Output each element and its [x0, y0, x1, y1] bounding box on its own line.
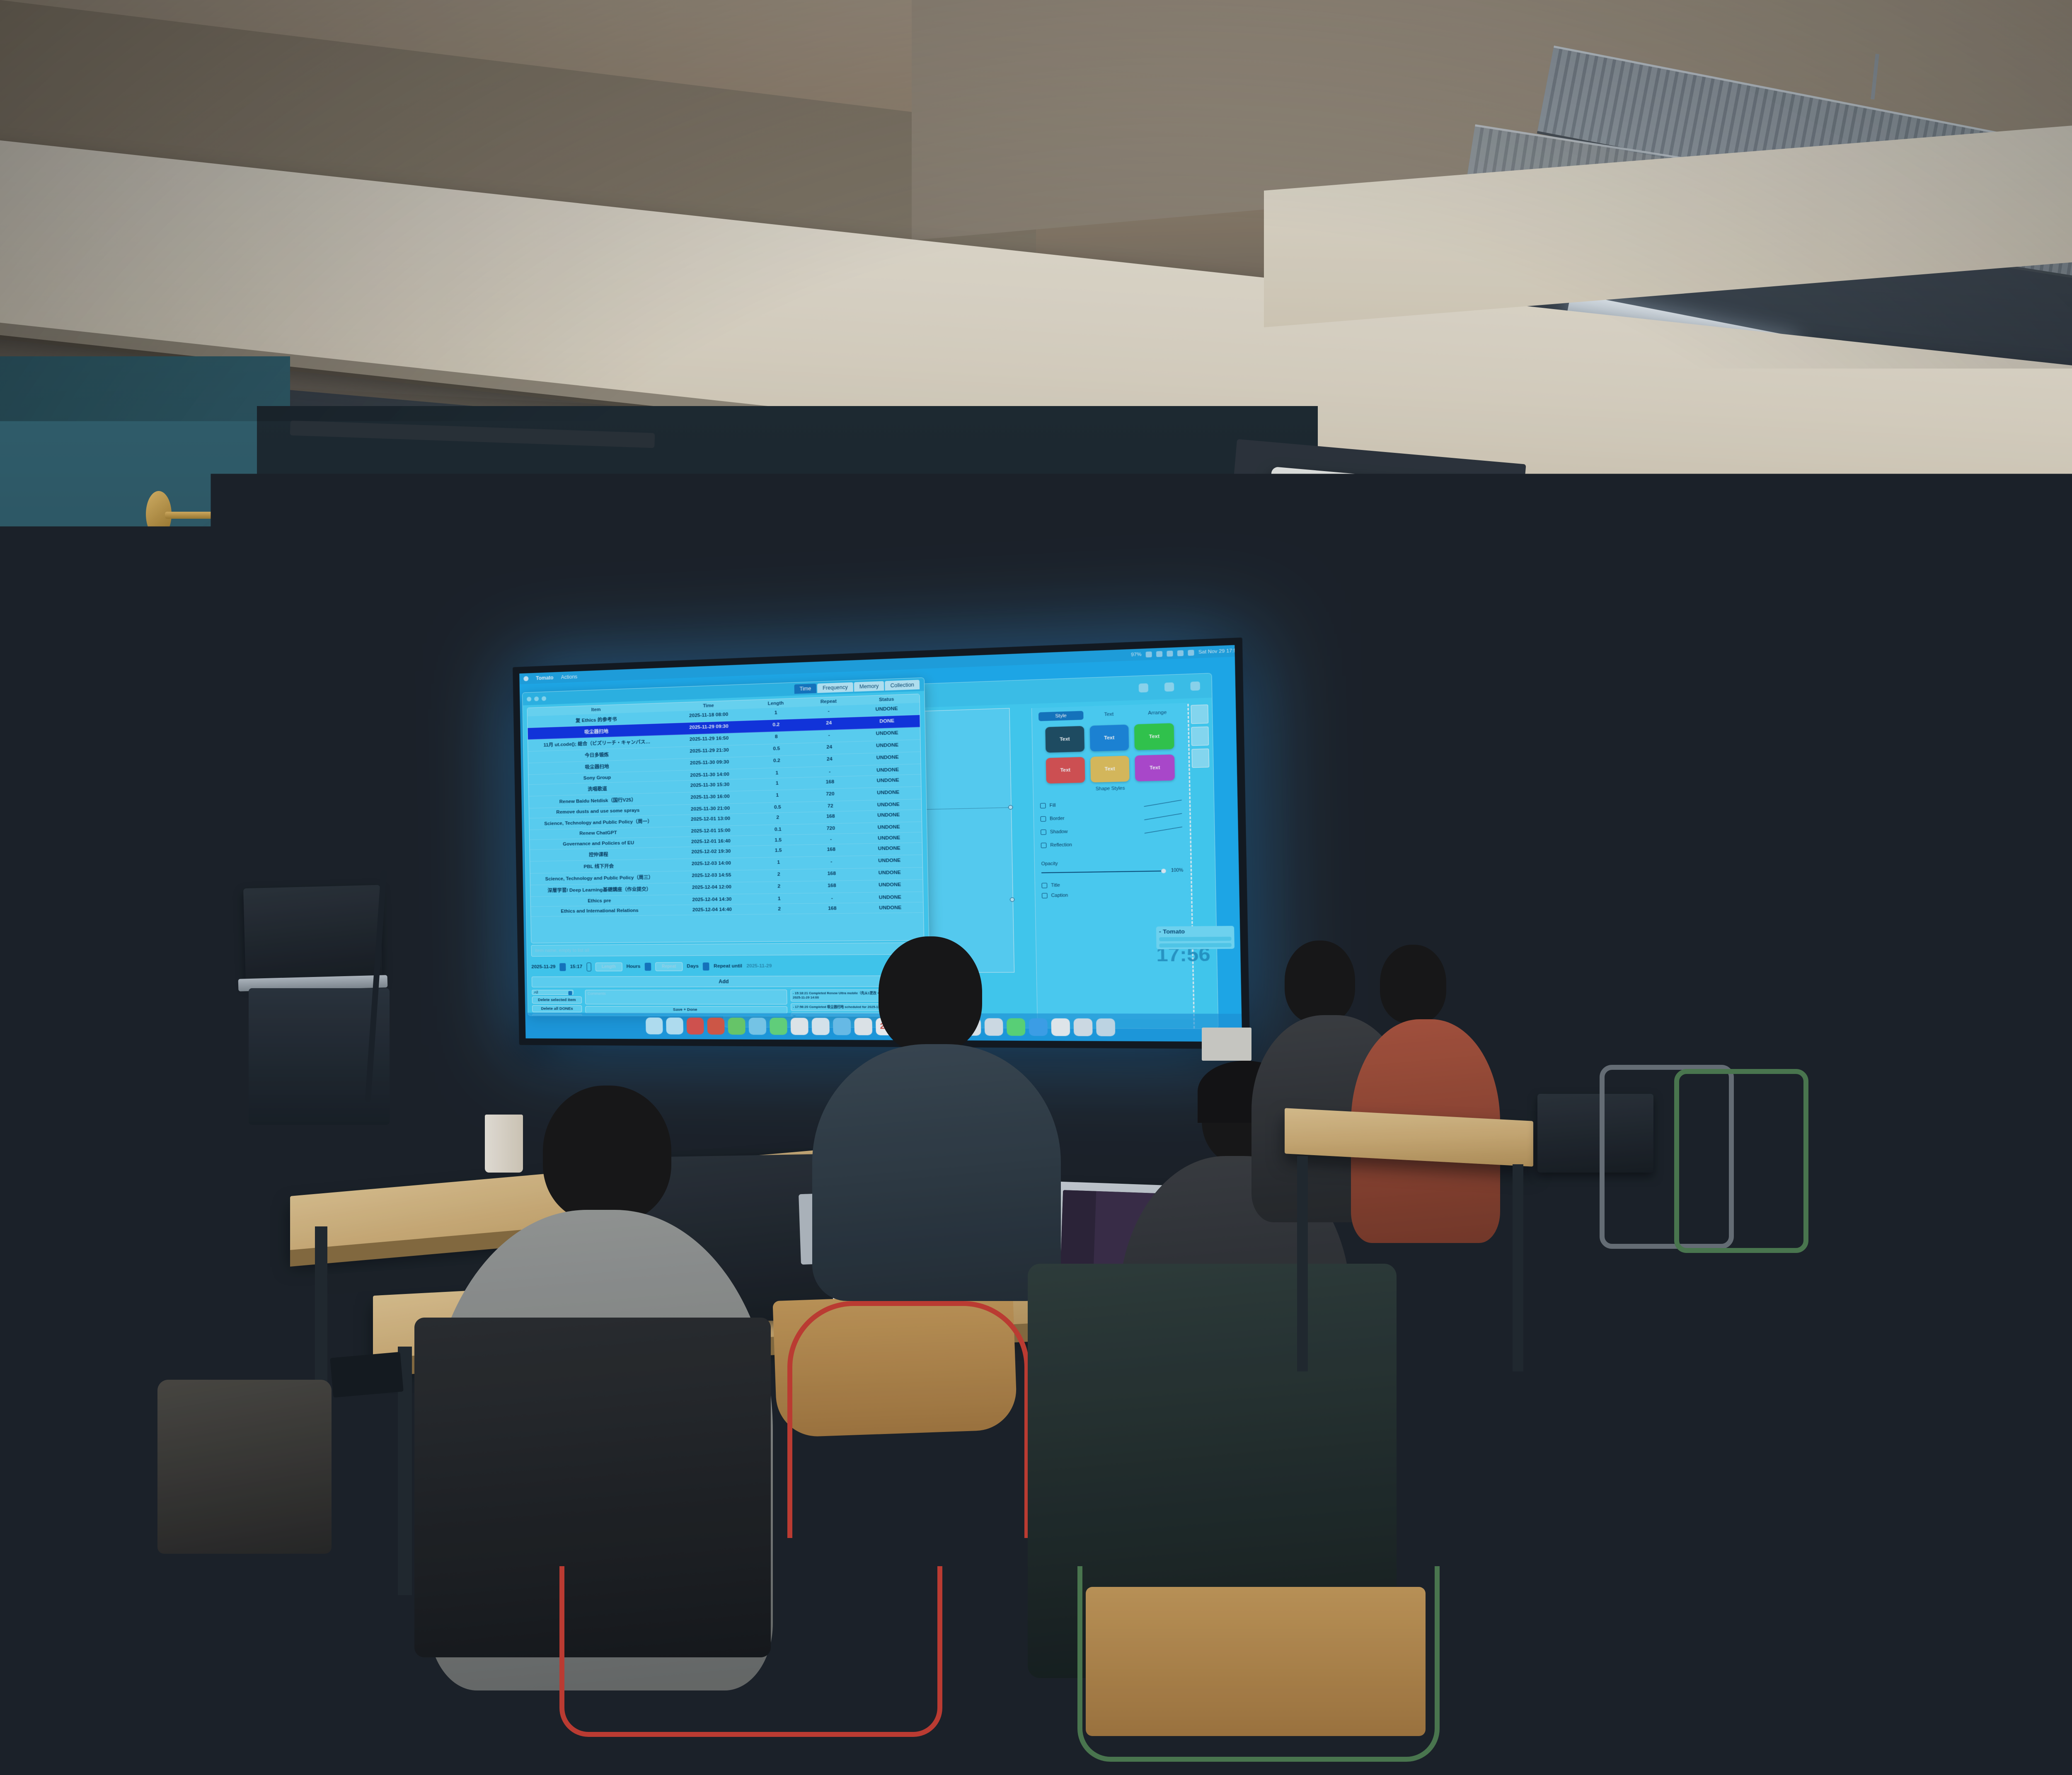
dia-icon[interactable] — [985, 1018, 1003, 1035]
cell-repeat: - — [803, 858, 860, 866]
cell-time: 2025-12-04 14:40 — [669, 907, 755, 913]
shape-swatch[interactable]: Text — [1089, 725, 1129, 752]
sconce-joint-left — [240, 514, 249, 539]
chair-frame-green-2[interactable] — [1674, 1069, 1808, 1253]
photos-icon[interactable] — [749, 1018, 767, 1035]
cell-length: 0.2 — [753, 758, 801, 766]
cell-repeat: 24 — [801, 744, 858, 752]
cell-status: UNDONE — [859, 777, 917, 786]
chair-seat-wood[interactable] — [1086, 1587, 1426, 1736]
inspector-row-title[interactable]: Title — [1041, 877, 1184, 892]
cell-length: 2 — [754, 815, 802, 822]
backpack-secondary — [157, 1380, 332, 1554]
checkbox-icon[interactable] — [1041, 829, 1046, 835]
cell-time: 2025-11-29 16:50 — [666, 735, 753, 745]
slide-thumbnail[interactable] — [1191, 704, 1208, 724]
cell-length: 1 — [753, 780, 801, 788]
checkbox-icon[interactable] — [1042, 893, 1048, 898]
cell-length: 1 — [753, 792, 801, 800]
screen-mirroring-icon[interactable] — [1146, 651, 1152, 658]
shape-swatch[interactable]: Text — [1045, 726, 1084, 753]
col-repeat[interactable]: Repeat — [800, 698, 857, 705]
new-task-form: 2025-11-29 15:17 Length Hours Repeat Day… — [531, 958, 924, 974]
laptop-right-screen[interactable] — [1859, 1148, 1982, 1241]
sconce-arm-left — [165, 512, 247, 519]
cell-repeat: - — [801, 768, 859, 775]
checkbox-icon[interactable] — [1042, 883, 1048, 888]
shape-swatch[interactable]: Text — [1134, 723, 1174, 750]
time-field[interactable]: 15:17 — [570, 964, 582, 969]
cell-repeat: 168 — [803, 871, 860, 879]
menu-actions[interactable]: Actions — [561, 674, 578, 680]
minimize-button[interactable] — [534, 696, 539, 701]
cell-item: Science, Technology and Public Policy（周三… — [530, 874, 669, 883]
mail-icon[interactable] — [833, 1018, 851, 1035]
cell-status: UNDONE — [859, 825, 918, 831]
trash-icon[interactable] — [1096, 1018, 1115, 1036]
cell-item: 复 Ethics 的参考书 — [528, 714, 666, 725]
cell-status: UNDONE — [859, 802, 917, 808]
tab-text[interactable]: Text — [1086, 709, 1132, 720]
save-done-button[interactable]: Save + Done — [585, 1006, 787, 1013]
cell-length: 1 — [752, 709, 800, 718]
cell-item: Ethics pre — [531, 897, 669, 904]
battery-percent: 97% — [1131, 652, 1142, 658]
col-status[interactable]: Status — [857, 696, 916, 703]
cell-item: 今日多锻炼 — [528, 750, 666, 760]
cell-repeat: 168 — [802, 846, 860, 854]
chair-back-red[interactable] — [787, 1301, 1029, 1538]
task-table[interactable]: Item Time Length Repeat Status 复 Ethics … — [527, 694, 925, 943]
table-leg — [1890, 1670, 1904, 1775]
selection-handle[interactable] — [1008, 805, 1013, 810]
tab-collection[interactable]: Collection — [885, 680, 920, 691]
zoom-icon[interactable] — [1139, 683, 1148, 692]
format-inspector: Style Text Arrange Text Text Text Text T… — [1031, 703, 1193, 1020]
cell-length: 2 — [755, 872, 803, 879]
cell-time: 2025-12-04 14:30 — [669, 897, 755, 903]
tomato-widget-bar — [1159, 943, 1232, 948]
cell-status: UNDONE — [859, 812, 918, 820]
cell-item: 吸尘器扫地 — [528, 726, 666, 737]
cell-status: UNDONE — [857, 705, 916, 714]
zoom-button[interactable] — [542, 696, 546, 701]
safari-icon[interactable] — [812, 1018, 830, 1035]
paper-cup — [485, 1115, 523, 1173]
photos2-icon[interactable] — [854, 1018, 872, 1035]
cell-status: UNDONE — [860, 858, 919, 866]
cell-status: UNDONE — [860, 835, 918, 841]
cell-length: 2 — [755, 906, 804, 912]
wall-outlet[interactable] — [1202, 1028, 1251, 1061]
checkbox-icon[interactable] — [1041, 843, 1047, 848]
repeat-unit[interactable]: Days — [687, 964, 699, 969]
room-scene: フリーWi-Fiをご利用いただけます FREE WI-FI SSID Bizre… — [0, 0, 2072, 1775]
tab-time[interactable]: Time — [794, 684, 817, 694]
slide-thumbnail[interactable] — [1191, 726, 1209, 746]
music-icon[interactable] — [687, 1018, 704, 1035]
cell-repeat: 168 — [802, 813, 859, 822]
menubar-clock[interactable]: Sat Nov 29 17:56 — [1198, 648, 1240, 655]
cell-time: 2025-11-30 09:30 — [667, 759, 753, 768]
cell-length: 8 — [752, 733, 800, 742]
repeat-until-label: Repeat until — [714, 964, 742, 969]
tomato-widget[interactable]: - Tomato — [1156, 926, 1234, 950]
sconce-bulb-left — [239, 549, 257, 576]
tomato-widget-title: - Tomato — [1159, 928, 1232, 935]
smartphone[interactable] — [330, 1352, 404, 1398]
apple-icon[interactable] — [523, 676, 528, 681]
cell-repeat: 24 — [800, 720, 858, 728]
cell-length: 1.5 — [754, 837, 802, 843]
cell-item: Renew Baidu Netdisk（国行V25） — [529, 796, 667, 805]
cell-status: UNDONE — [858, 742, 917, 751]
shadow-label: Shadow — [1050, 829, 1068, 835]
time-stepper[interactable] — [586, 962, 591, 971]
cell-status: UNDONE — [861, 882, 919, 890]
shape-styles-caption: Shape Styles — [1040, 784, 1181, 793]
tomato-bottom-panel: All Delete selected item Delete all DONE… — [532, 989, 925, 1014]
cell-repeat: - — [800, 707, 857, 716]
caption-label: Caption — [1051, 893, 1068, 898]
inspector-row-reflection[interactable]: Reflection — [1041, 836, 1183, 852]
search-icon[interactable] — [1188, 650, 1194, 656]
cell-status: UNDONE — [861, 905, 920, 911]
cell-length: 1 — [755, 896, 803, 902]
chair-seat-wood-front[interactable] — [1546, 1608, 1836, 1732]
finder-icon[interactable] — [646, 1018, 663, 1035]
close-button[interactable] — [527, 696, 531, 701]
cell-time: 2025-12-01 13:00 — [668, 816, 754, 825]
action-button-column: All Delete selected item Delete all DONE… — [532, 990, 582, 1013]
cell-item: 控仲课程 — [530, 850, 668, 859]
cell-item: 洗唱歌道 — [529, 784, 667, 794]
date-stepper[interactable] — [559, 963, 566, 971]
comments-column: Comments Save + Done — [585, 989, 787, 1013]
cell-time: 2025-12-04 12:00 — [669, 884, 755, 892]
tomato-icon[interactable] — [707, 1018, 724, 1035]
cell-repeat: - — [803, 895, 861, 901]
reflection-label: Reflection — [1050, 842, 1072, 848]
repeat-input[interactable]: Repeat — [655, 962, 683, 971]
delete-all-dones-button[interactable]: Delete all DONEs — [532, 1005, 582, 1012]
length-unit[interactable]: Hours — [626, 964, 640, 969]
cell-item: Renew ChatGPT — [530, 829, 668, 837]
cell-status: UNDONE — [860, 870, 919, 878]
wechat-icon[interactable] — [728, 1018, 746, 1035]
control-center-icon[interactable] — [1177, 650, 1184, 656]
line-icon[interactable] — [1007, 1018, 1025, 1036]
close-icon[interactable] — [1190, 682, 1200, 691]
tab-frequency[interactable]: Frequency — [817, 682, 853, 693]
cell-time: 2025-11-29 09:30 — [666, 723, 752, 733]
cell-repeat: 168 — [804, 906, 861, 912]
col-length[interactable]: Length — [752, 700, 800, 707]
tomato-window[interactable]: Time Frequency Memory Collection Item Ti… — [522, 677, 931, 1017]
shape-swatch[interactable]: Text — [1046, 757, 1085, 784]
search-input[interactable]: Item name, empty to list all — [531, 942, 931, 957]
cell-length: 1 — [755, 860, 803, 867]
chair-frame-navy[interactable] — [1430, 1098, 1597, 1340]
cell-time: 2025-11-29 21:30 — [666, 747, 753, 757]
cell-status: UNDONE — [858, 730, 916, 739]
checkbox-icon[interactable] — [1041, 816, 1046, 822]
table-leg — [1890, 1243, 1902, 1500]
repeat-until-date[interactable]: 2025-11-29 — [746, 963, 772, 969]
comments-textarea[interactable]: Comments — [585, 989, 787, 1004]
cell-repeat: 72 — [802, 803, 859, 810]
border-label: Border — [1050, 816, 1065, 822]
cell-item: Ethics and International Relations — [531, 908, 669, 914]
opacity-label: Opacity — [1041, 859, 1184, 866]
cell-length: 2 — [755, 884, 803, 891]
cell-item: Sony Group — [528, 774, 667, 782]
format-icon[interactable] — [1164, 682, 1174, 692]
length-unit-stepper[interactable] — [644, 962, 651, 970]
cell-item: 11月 ut.code(); 総合（ビズリーチ・キャンパス… — [528, 738, 666, 749]
cell-length: 1.5 — [754, 847, 802, 855]
repeat-unit-stepper[interactable] — [703, 962, 709, 970]
cell-time: 2025-12-02 19:30 — [668, 848, 754, 856]
cell-length: 1 — [753, 770, 801, 776]
facetime-icon[interactable] — [770, 1018, 787, 1035]
delete-selected-item-button[interactable]: Delete selected item — [532, 996, 582, 1004]
table-leg — [1297, 1156, 1308, 1371]
shape-style-swatches: Text Text Text Text Text Text — [1039, 723, 1182, 784]
cell-time: 2025-11-30 14:00 — [667, 771, 753, 779]
fill-label: Fill — [1049, 803, 1055, 808]
inspector-row-caption[interactable]: Caption — [1042, 890, 1184, 902]
tomato-tabs: Time Frequency Memory Collection — [794, 680, 920, 694]
cell-status: UNDONE — [860, 845, 918, 853]
projector-ports — [1348, 482, 1449, 552]
cell-status: UNDONE — [859, 789, 917, 798]
slide-thumbnail[interactable] — [1191, 749, 1209, 768]
cell-time: 2025-11-30 21:00 — [668, 805, 754, 813]
wall-left-teal — [0, 356, 290, 1268]
tab-arrange[interactable]: Arrange — [1134, 708, 1180, 718]
disclosure-rule — [1144, 813, 1182, 820]
books-icon[interactable] — [1051, 1018, 1070, 1036]
cell-repeat: - — [800, 732, 858, 740]
vscode-icon[interactable] — [1029, 1018, 1048, 1036]
cell-item: PBL 线下开会 — [530, 862, 668, 871]
cell-repeat: 168 — [801, 779, 859, 787]
terminal-icon[interactable] — [1074, 1018, 1093, 1036]
shape-swatch[interactable]: Text — [1135, 754, 1175, 781]
cell-time: 2025-12-01 16:40 — [668, 838, 754, 845]
length-input[interactable]: Length — [595, 962, 622, 971]
chrome-icon[interactable] — [791, 1018, 808, 1035]
cell-status: DONE — [858, 718, 916, 726]
tab-style[interactable]: Style — [1038, 711, 1084, 721]
presenter-laptop[interactable] — [243, 885, 382, 984]
disclosure-rule — [1145, 827, 1182, 833]
backpack — [157, 1533, 398, 1748]
filter-select[interactable]: All — [532, 990, 573, 995]
shape-swatch[interactable]: Text — [1090, 756, 1130, 783]
bluetooth-icon[interactable] — [1156, 651, 1162, 657]
date-field[interactable]: 2025-11-29 — [531, 965, 555, 970]
cell-time: 2025-12-01 15:00 — [668, 828, 754, 834]
opacity-value[interactable]: 100% — [1171, 868, 1184, 873]
inspector-opacity: Opacity 100% — [1041, 855, 1183, 879]
cell-item: Remove dusts and use some sprays — [529, 808, 668, 816]
cell-length: 0.5 — [753, 804, 801, 810]
cell-item: Governance and Policies of EU — [530, 840, 668, 847]
cell-repeat: 720 — [801, 791, 859, 799]
inspector-tabs: Style Text Arrange — [1038, 708, 1180, 721]
cell-repeat: 168 — [803, 883, 861, 890]
chair-frame-red[interactable] — [559, 1566, 942, 1737]
cell-time: 2025-12-03 14:55 — [668, 872, 755, 880]
cell-length: 0.5 — [753, 745, 801, 754]
cell-status: UNDONE — [861, 895, 919, 900]
cell-status: UNDONE — [859, 767, 917, 773]
opacity-slider[interactable] — [1041, 870, 1166, 873]
cell-item: 深層学習/ Deep Learning基礎講座（作业提交） — [530, 885, 669, 894]
wifi-icon[interactable] — [1167, 651, 1173, 657]
cell-repeat: - — [802, 836, 860, 842]
cell-item: 吸尘器扫地 — [528, 762, 667, 772]
disclosure-rule — [1144, 800, 1182, 807]
cell-length: 0.2 — [752, 721, 800, 730]
tab-memory[interactable]: Memory — [854, 681, 884, 692]
selection-handle[interactable] — [1010, 897, 1014, 902]
tomato-widget-bar — [1159, 937, 1232, 941]
cell-repeat: 720 — [802, 825, 859, 832]
cell-length: 0.1 — [754, 827, 802, 833]
menubar-status-area: 97% Sat Nov 29 17:56 — [1131, 648, 1239, 658]
cell-time: 2025-11-18 08:00 — [666, 711, 752, 721]
add-button[interactable]: Add — [532, 975, 925, 987]
cell-time: 2025-12-03 14:00 — [668, 860, 755, 868]
cell-time: 2025-11-30 16:00 — [667, 793, 753, 802]
cell-time: 2025-11-30 15:30 — [667, 781, 753, 791]
cell-repeat: 24 — [801, 756, 858, 765]
launchpad-icon[interactable] — [666, 1018, 683, 1035]
cell-status: UNDONE — [858, 754, 917, 763]
cell-item: Science, Technology and Public Policy（周一… — [529, 817, 668, 827]
checkbox-icon[interactable] — [1040, 803, 1046, 808]
laptop-right-keyboard[interactable] — [1864, 1242, 1986, 1282]
menu-app-name[interactable]: Tomato — [536, 675, 554, 681]
title-label: Title — [1051, 883, 1060, 888]
